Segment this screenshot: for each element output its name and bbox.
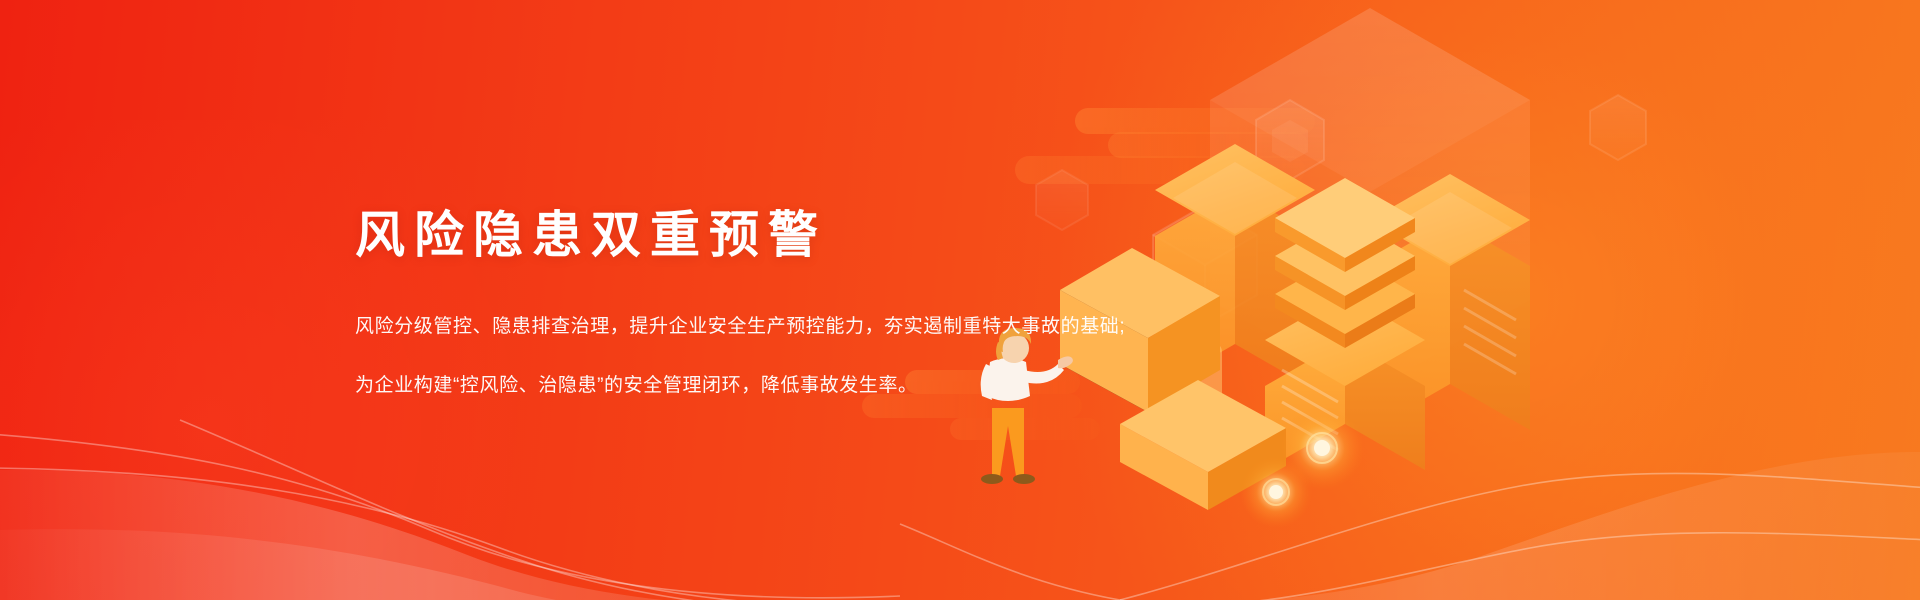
hexagon-decoration-1 xyxy=(1256,100,1324,180)
hero-banner: 风险隐患双重预警 风险分级管控、隐患排查治理，提升企业安全生产预控能力，夯实遏制… xyxy=(0,0,1920,600)
stacked-layers xyxy=(1275,178,1415,348)
server-tower-center xyxy=(1265,178,1425,470)
rack-detail-lines xyxy=(1282,370,1338,450)
wave-stroke-3 xyxy=(180,420,1000,600)
wave-fill-2 xyxy=(0,529,960,600)
wave-stroke-5 xyxy=(900,524,1920,600)
wave-fill-3 xyxy=(1040,452,1920,600)
person-shoe-left xyxy=(981,474,1003,484)
banner-text-block: 风险隐患双重预警 风险分级管控、隐患排查治理，提升企业安全生产预控能力，夯实遏制… xyxy=(355,208,1255,425)
glow-node-lower xyxy=(1240,456,1312,528)
wave-stroke-1 xyxy=(0,434,900,598)
glow-node-upper xyxy=(1280,406,1364,490)
wave-stroke-2 xyxy=(0,468,980,600)
hexagon-decoration-2 xyxy=(1590,95,1646,160)
server-tower-right xyxy=(1370,174,1530,430)
wave-stroke-4 xyxy=(1120,473,1920,600)
wave-fill-1 xyxy=(0,470,930,600)
banner-subtitle-line-1: 风险分级管控、隐患排查治理，提升企业安全生产预控能力，夯实遏制重特大事故的基础; xyxy=(355,307,1255,347)
ghost-backdrop-shape xyxy=(1210,8,1530,392)
cloud-decoration-upper xyxy=(1015,108,1315,184)
page-title: 风险隐患双重预警 xyxy=(355,208,1255,263)
banner-subtitle-line-2: 为企业构建“控风险、治隐患”的安全管理闭环，降低事故发生率。 xyxy=(355,366,1255,406)
person-shoe-right xyxy=(1013,474,1035,484)
